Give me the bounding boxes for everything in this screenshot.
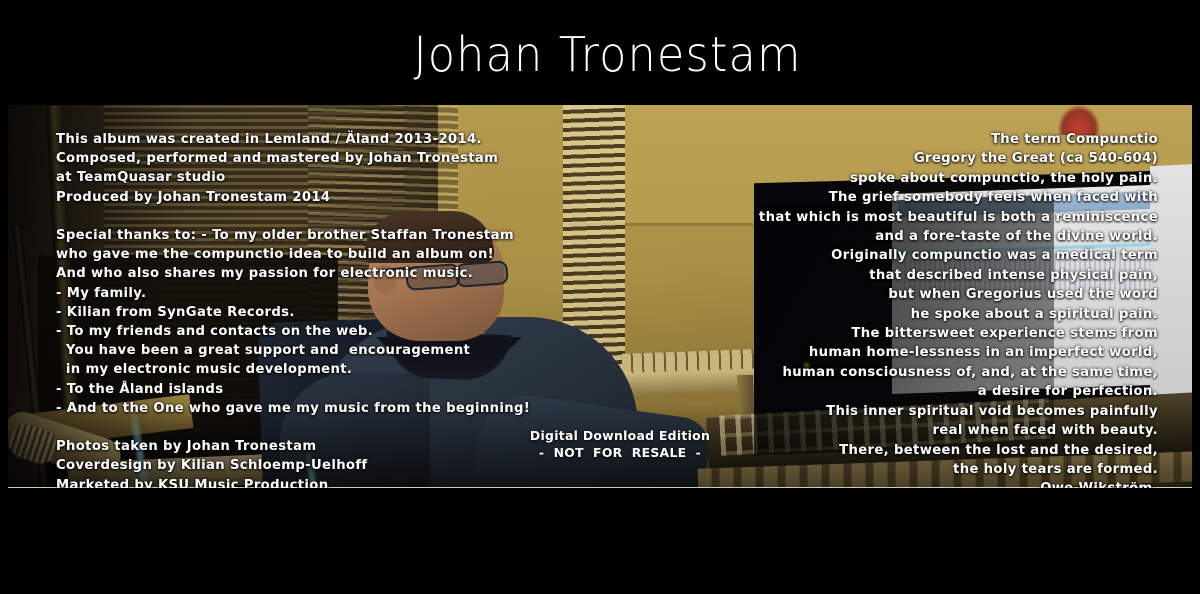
artist-name-title: Johan Tronestam bbox=[43, 28, 1173, 82]
header-band: Johan Tronestam bbox=[0, 0, 1200, 105]
album-credits-text: This album was created in Lemland / Älan… bbox=[56, 130, 556, 533]
album-cover-back: Johan Tronestam bbox=[0, 0, 1200, 594]
footer-band: Compunctio bbox=[0, 488, 1200, 594]
resale-notice: Digital Download Edition - NOT FOR RESAL… bbox=[520, 428, 720, 461]
compunctio-definition-text: The term Compunctio Gregory the Great (c… bbox=[688, 130, 1158, 538]
